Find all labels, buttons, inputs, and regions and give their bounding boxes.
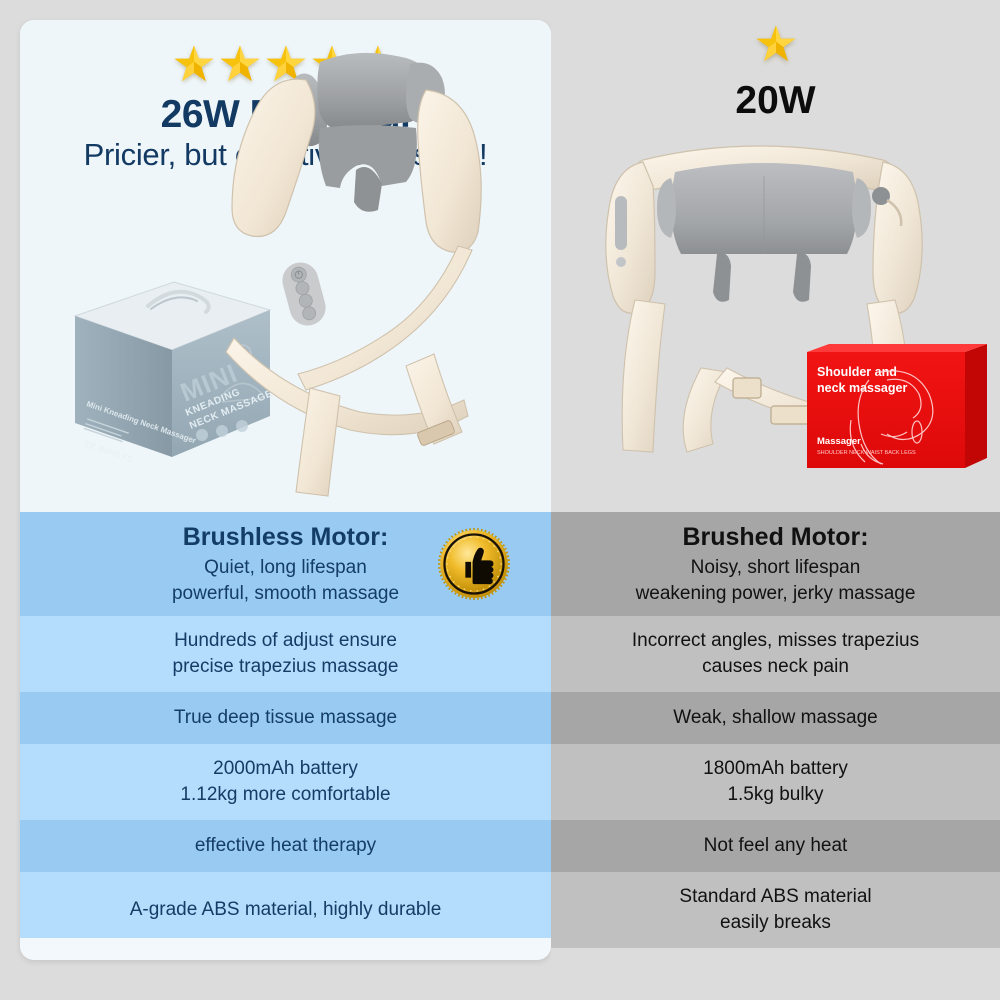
- row-4-left-line-1: 2000mAh battery: [213, 756, 358, 782]
- red-box-footer-small: SHOULDER NECK WAIST BACK LEGS: [817, 450, 916, 456]
- infographic-stage: 26W Powerful Pricier, but effective mass…: [0, 0, 1000, 1000]
- left-comparison-rows: Brushless Motor:Quiet, long lifespanpowe…: [20, 512, 551, 948]
- gold-thumbs-up-badge-icon: [438, 528, 510, 600]
- right-control-strip: [615, 196, 627, 250]
- row-1-left-line-1: Quiet, long lifespan: [204, 555, 367, 581]
- row-2-left-line-2: precise trapezius massage: [173, 654, 399, 680]
- comparison-row-6-right: Standard ABS materialeasily breaks: [551, 872, 1000, 948]
- control-panel: [278, 258, 329, 329]
- comparison-row-1-right: Brushed Motor:Noisy, short lifespanweake…: [551, 512, 1000, 616]
- comparison-row-6-left: A-grade ABS material, highly durable: [20, 872, 551, 948]
- comparison-row-3-right: Weak, shallow massage: [551, 692, 1000, 744]
- right-package-box: Shoulder and neck massager Massager SHOU…: [807, 344, 987, 468]
- comparison-row-4-right: 1800mAh battery1.5kg bulky: [551, 744, 1000, 820]
- right-hero-area: 20W: [551, 0, 1000, 512]
- row-4-right-line-1: 1800mAh battery: [703, 756, 848, 782]
- comparison-row-4-left: 2000mAh battery1.12kg more comfortable: [20, 744, 551, 820]
- row-1-right-line-2: weakening power, jerky massage: [636, 581, 916, 607]
- row-3-right-line-1: Weak, shallow massage: [673, 705, 878, 731]
- row-4-right-line-2: 1.5kg bulky: [727, 782, 823, 808]
- row-6-left-line-1: A-grade ABS material, highly durable: [130, 897, 442, 923]
- row-2-left-line-1: Hundreds of adjust ensure: [174, 628, 397, 654]
- left-card-bottom-padding: [20, 938, 551, 960]
- row-4-left-line-2: 1.12kg more comfortable: [180, 782, 390, 808]
- row-1-right-line-1: Noisy, short lifespan: [691, 555, 861, 581]
- comparison-row-5-right: Not feel any heat: [551, 820, 1000, 872]
- comparison-row-5-left: effective heat therapy: [20, 820, 551, 872]
- row-3-left-line-1: True deep tissue massage: [174, 705, 397, 731]
- row-2-right-line-2: causes neck pain: [702, 654, 849, 680]
- row-1-left-line-2: powerful, smooth massage: [172, 581, 399, 607]
- row-2-right-line-1: Incorrect angles, misses trapezius: [632, 628, 919, 654]
- strap-buckle-1: [733, 378, 761, 398]
- right-product-column: 20W: [551, 0, 1000, 1000]
- left-product-image: MINI KNEADING NECK MASSAGER: [20, 20, 551, 512]
- row-6-right-line-2: easily breaks: [720, 910, 831, 936]
- comparison-row-2-left: Hundreds of adjust ensureprecise trapezi…: [20, 616, 551, 692]
- left-product-card: 26W Powerful Pricier, but effective mass…: [20, 20, 551, 960]
- row-1-right-title: Brushed Motor:: [682, 522, 868, 553]
- left-hero-area: 26W Powerful Pricier, but effective mass…: [20, 20, 551, 512]
- comparison-row-3-left: True deep tissue massage: [20, 692, 551, 744]
- comparison-row-2-right: Incorrect angles, misses trapeziuscauses…: [551, 616, 1000, 692]
- left-massager-device: [226, 53, 481, 496]
- box-cert-text: CE RoHS FC: [83, 438, 134, 464]
- right-comparison-rows: Brushed Motor:Noisy, short lifespanweake…: [551, 512, 1000, 948]
- red-box-footer-label: Massager: [817, 436, 861, 447]
- row-5-left-line-1: effective heat therapy: [195, 833, 376, 859]
- row-1-left-title: Brushless Motor:: [183, 522, 389, 553]
- comparison-row-1-left: Brushless Motor:Quiet, long lifespanpowe…: [20, 512, 551, 616]
- row-5-right-line-1: Not feel any heat: [704, 833, 848, 859]
- row-6-right-line-1: Standard ABS material: [679, 884, 871, 910]
- right-product-image: Shoulder and neck massager Massager SHOU…: [551, 0, 1000, 512]
